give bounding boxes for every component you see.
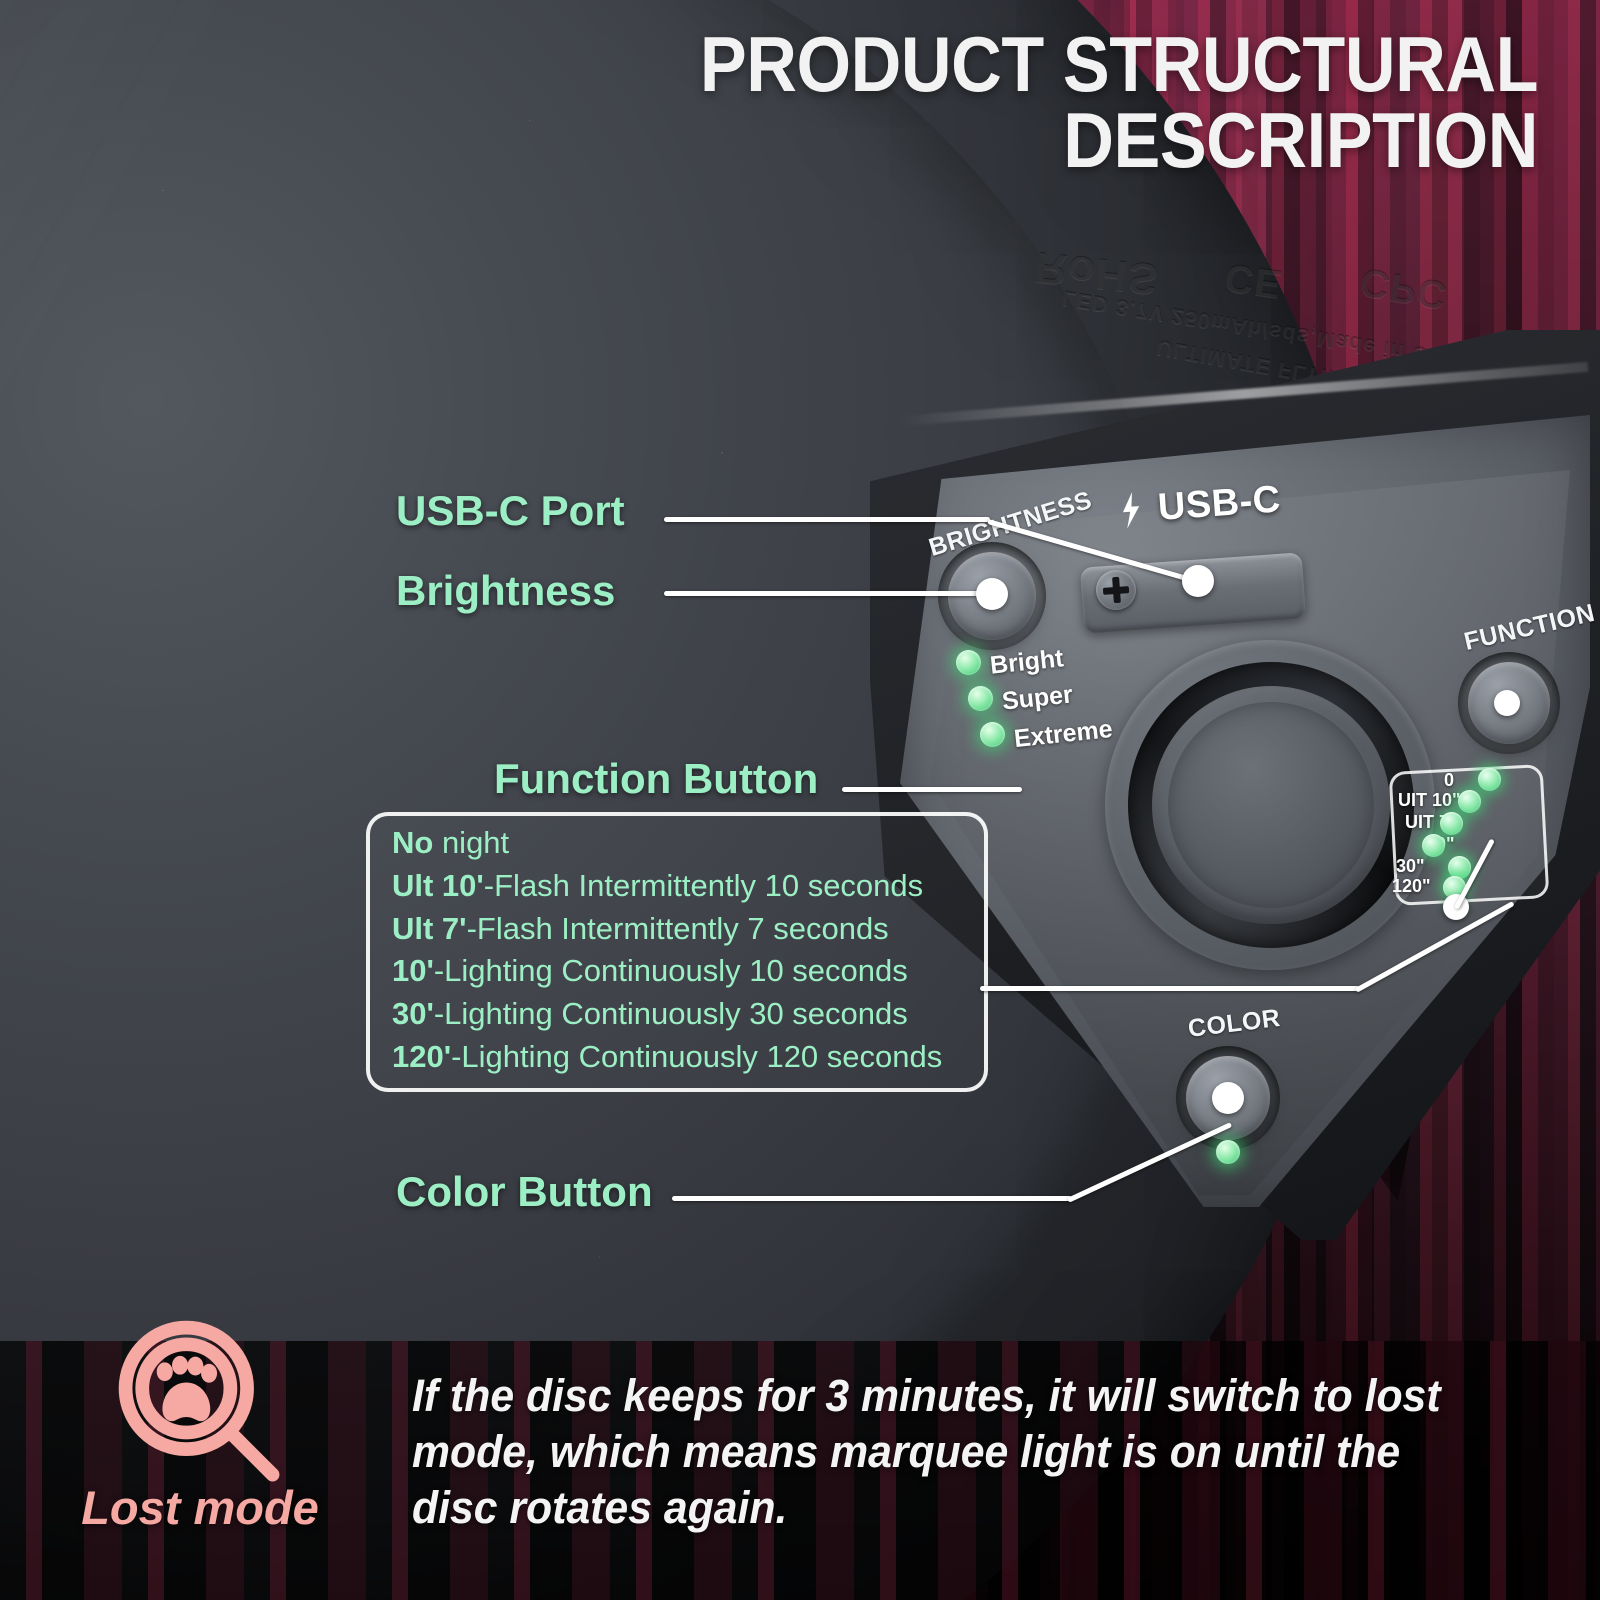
leader-brightness xyxy=(664,591,990,596)
function-mode-desc: -Flash Intermittently 7 seconds xyxy=(467,911,889,946)
leader-function-title xyxy=(842,787,1022,792)
leader-function-horizontal xyxy=(980,986,1360,991)
leader-dot-color xyxy=(1212,1082,1244,1114)
leader-dot-usb-c xyxy=(1182,565,1214,597)
leader-color-horizontal xyxy=(672,1196,1072,1201)
callout-function-button: Function Button xyxy=(494,755,818,803)
banner-description: If the disc keeps for 3 minutes, it will… xyxy=(412,1368,1476,1535)
mode-label-120: 120" xyxy=(1392,876,1431,897)
callout-usb-c-port: USB-C Port xyxy=(396,487,625,535)
hub-core xyxy=(1168,702,1374,908)
leader-dot-brightness xyxy=(976,578,1008,610)
function-mode-key: 10' xyxy=(392,953,434,988)
function-mode-row: Ult 10'-Flash Intermittently 10 seconds xyxy=(392,865,972,908)
page-title-line1: PRODUCT STRUCTURAL xyxy=(620,26,1538,102)
function-mode-desc: -Lighting Continuously 120 seconds xyxy=(451,1039,942,1074)
function-modes-list: No night Ult 10'-Flash Intermittently 10… xyxy=(392,822,972,1079)
function-mode-desc: night xyxy=(433,825,509,860)
mode-label-0: 0 xyxy=(1444,770,1454,791)
led-color-indicator xyxy=(1216,1140,1240,1164)
callout-color-button: Color Button xyxy=(396,1168,653,1216)
mode-led-uit7 xyxy=(1440,812,1463,835)
mode-label-uit10: UIT 10" xyxy=(1398,790,1461,811)
lightning-bolt-icon xyxy=(1117,491,1145,529)
function-mode-desc: -Lighting Continuously 10 seconds xyxy=(434,953,908,988)
function-mode-key: Ult 10' xyxy=(392,868,484,903)
mode-led-uit10 xyxy=(1458,790,1481,813)
function-mode-key: 30' xyxy=(392,996,434,1031)
callout-brightness: Brightness xyxy=(396,567,615,615)
function-mode-key: No xyxy=(392,825,433,860)
lost-mode-magnifier-paw-icon xyxy=(104,1310,300,1506)
usb-c-label-text: USB-C xyxy=(1157,478,1283,529)
leader-usb-c-horizontal xyxy=(664,517,990,522)
function-mode-row: 30'-Lighting Continuously 30 seconds xyxy=(392,993,972,1036)
function-mode-desc: -Flash Intermittently 10 seconds xyxy=(484,868,923,903)
led-extreme xyxy=(980,722,1005,747)
function-mode-key: Ult 7' xyxy=(392,911,467,946)
function-mode-row: Ult 7'-Flash Intermittently 7 seconds xyxy=(392,908,972,951)
led-super xyxy=(968,686,993,711)
function-mode-desc: -Lighting Continuously 30 seconds xyxy=(434,996,908,1031)
page-title-line2: DESCRIPTION xyxy=(620,102,1538,178)
leader-dot-function xyxy=(1494,690,1520,716)
mode-label-30: 30" xyxy=(1396,856,1425,877)
function-mode-row: No night xyxy=(392,822,972,865)
function-mode-row: 120'-Lighting Continuously 120 seconds xyxy=(392,1036,972,1079)
page-title: PRODUCT STRUCTURAL DESCRIPTION xyxy=(620,26,1538,179)
lost-mode-label: Lost mode xyxy=(50,1480,350,1535)
function-mode-key: 120' xyxy=(392,1039,451,1074)
mode-led-0 xyxy=(1478,768,1501,791)
function-mode-row: 10'-Lighting Continuously 10 seconds xyxy=(392,950,972,993)
led-bright xyxy=(956,650,981,675)
mode-led-10 xyxy=(1422,834,1445,857)
infographic-canvas: RoHS CE CPC LED 3.7V 250mAh/sds,Made in … xyxy=(0,0,1600,1600)
